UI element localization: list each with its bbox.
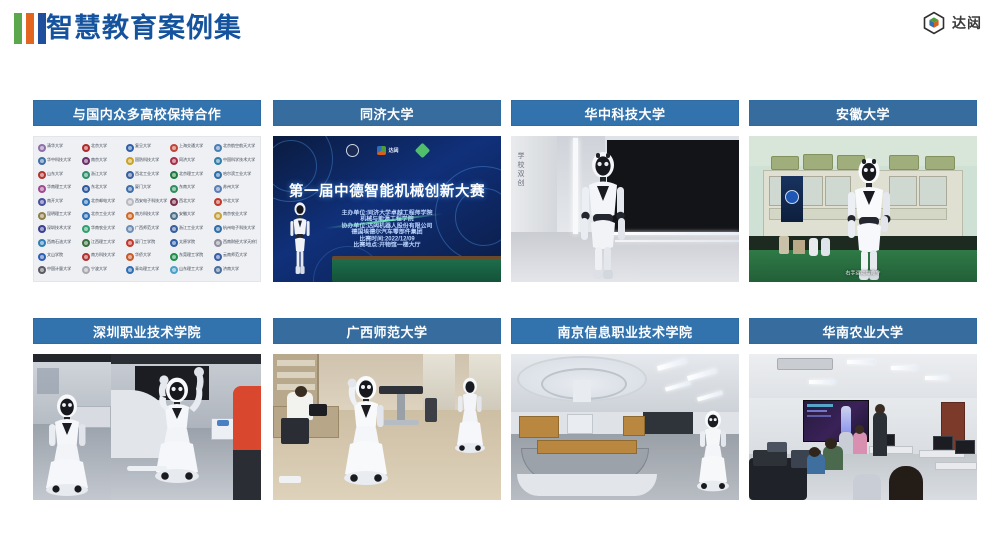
seated-person (807, 454, 825, 474)
page-header: 智慧教育案例集 达闼 (0, 0, 1000, 58)
university-name: 南方科技大学 (91, 254, 115, 258)
photo-left (33, 354, 111, 500)
case-card-partners[interactable]: 与国内众多高校保持合作 清华大学北京大学复旦大学上海交通大学北京航空航天大学华中… (33, 100, 261, 318)
university-logo-item: 山东大学 (37, 168, 81, 182)
university-logo-item: 华南农业大学 (81, 223, 125, 237)
monitor (933, 436, 953, 450)
small-object (779, 236, 789, 254)
university-name: 北京航空航天大学 (223, 146, 255, 150)
robot-figure (693, 410, 733, 500)
university-logo-item: 西北大学 (169, 195, 213, 209)
case-card-body (511, 354, 739, 500)
university-seal-icon (82, 185, 90, 193)
seated-person (823, 446, 843, 470)
accent-bar-blue (38, 13, 46, 44)
university-seal-icon (170, 157, 178, 165)
university-name: 太原学院 (179, 241, 195, 245)
chair (281, 418, 309, 444)
university-logo-item: 文山学院 (37, 250, 81, 264)
university-name: 复旦大学 (135, 146, 151, 150)
split-photo-pair (33, 354, 261, 500)
cardboard-box (793, 240, 805, 254)
university-logo-item: 南方科技大学 (125, 209, 169, 223)
toy-robot (821, 238, 830, 256)
university-logo-item: 上海交通大学 (169, 141, 213, 155)
university-logo-item: 南京大学 (81, 155, 125, 169)
person-head (855, 425, 864, 434)
wall-vertical-text: 学校双创 (515, 152, 525, 188)
university-seal-icon (170, 212, 178, 220)
university-name: 华侨大学 (135, 254, 151, 258)
video-subtitle: 右手运动用命令 (749, 269, 977, 277)
university-seal-icon (126, 198, 134, 206)
person-head (875, 404, 885, 414)
dark-doorway (643, 412, 693, 434)
university-seal-icon (126, 212, 134, 220)
atrium-scene (511, 354, 739, 500)
case-card-title: 广西师范大学 (273, 318, 501, 344)
accent-bars (14, 13, 46, 44)
university-seal-icon (214, 157, 222, 165)
university-logo-item: 宁波大学 (81, 263, 125, 277)
standing-person (873, 412, 887, 456)
laptop (309, 404, 327, 416)
robot-figure (843, 158, 895, 282)
robot-figure (147, 366, 219, 498)
storage-bin (803, 154, 833, 170)
university-logo-item: 南京农业大学 (213, 209, 257, 223)
dataa-brand-icon: 达闼 (377, 146, 398, 155)
university-logo-item: 西南财经大学天府学院 (213, 236, 257, 250)
university-logo-item: 北京航空航天大学 (213, 141, 257, 155)
university-logo-item: 江西理工大学 (81, 236, 125, 250)
university-logo-item: 华南理工大学 (37, 182, 81, 196)
university-name: 北京工业大学 (91, 214, 115, 218)
case-card-body (33, 354, 261, 500)
university-name: 宁波大学 (91, 268, 107, 272)
university-logo-item: 西南石油大学 (37, 236, 81, 250)
university-logo-item: 苏州大学 (213, 182, 257, 196)
university-logo-item: 安徽大学 (169, 209, 213, 223)
university-logo-item: 云南师范大学 (213, 250, 257, 264)
university-seal-icon (214, 144, 222, 152)
university-name: 昆明理工大学 (47, 214, 71, 218)
university-name: 南京农业大学 (223, 214, 247, 218)
ceiling-band (33, 354, 111, 362)
case-card-body: 达闼 第一届中德智能机械创新大赛 主办单位:同济大学卓越工程师学院机械与能源工程… (273, 136, 501, 282)
university-seal-icon (126, 144, 134, 152)
university-name: 上海交通大学 (179, 146, 203, 150)
university-logo-item: 山东理工大学 (169, 263, 213, 277)
university-name: 深圳技术大学 (47, 227, 71, 231)
university-logo-item: 同济大学 (169, 155, 213, 169)
university-logo-item: 中国科学技术大学 (213, 155, 257, 169)
university-name: 山东大学 (47, 173, 63, 177)
university-logo-item: 浙江大学 (81, 168, 125, 182)
lab-scene: 右手运动用命令 (749, 136, 977, 282)
case-row-2: 深圳职业技术学院 (0, 318, 1000, 536)
university-logo-item: 南方科技大学 (81, 250, 125, 264)
university-seal-icon (38, 212, 46, 220)
university-name: 国防科技大学 (135, 159, 159, 163)
university-seal-icon (170, 266, 178, 274)
classroom-scene (273, 354, 501, 500)
page-title: 智慧教育案例集 (46, 9, 242, 48)
case-card-scau[interactable]: 华南农业大学 (749, 318, 977, 536)
screen-ui-line (807, 404, 833, 407)
robot-figure (573, 152, 633, 280)
university-name: 云南师范大学 (223, 254, 247, 258)
shelf (277, 372, 315, 378)
university-name: 南开大学 (47, 200, 63, 204)
university-logo-item: 北京工业大学 (81, 209, 125, 223)
led-strip (615, 240, 739, 242)
university-name: 华南理工大学 (47, 186, 71, 190)
university-seal-icon (170, 239, 178, 247)
university-logo-item: 浙江工业大学 (169, 223, 213, 237)
university-seal-icon (38, 171, 46, 179)
corridor-scene: 学校双创 (511, 136, 739, 282)
monitor-arm (767, 442, 787, 452)
photo-right (111, 354, 261, 500)
university-seal-icon (38, 144, 46, 152)
computer-lab-scene (749, 354, 977, 500)
brand-logo: 达闼 (922, 11, 982, 35)
university-logo-item: 国防科技大学 (125, 155, 169, 169)
university-name: 广西师范大学 (135, 227, 159, 231)
university-seal-icon (126, 171, 134, 179)
case-card-body: 清华大学北京大学复旦大学上海交通大学北京航空航天大学华中科技大学南京大学国防科技… (33, 136, 261, 282)
case-card-body: 右手运动用命令 (749, 136, 977, 282)
university-name: 中国计量大学 (47, 268, 71, 272)
university-seal-icon (38, 198, 46, 206)
university-name: 哈尔滨工业大学 (223, 173, 251, 177)
university-name: 东南大学 (179, 186, 195, 190)
case-card-gxnu[interactable]: 广西师范大学 (273, 318, 501, 536)
university-seal-icon (214, 171, 222, 179)
case-card-body: 学校双创 (511, 136, 739, 282)
case-card-szpt[interactable]: 深圳职业技术学院 (33, 318, 261, 536)
case-card-title: 深圳职业技术学院 (33, 318, 261, 344)
university-seal-icon (82, 157, 90, 165)
podium-stem (397, 394, 405, 422)
university-logo-item: 华中科技大学 (37, 155, 81, 169)
counter-base-platform (517, 474, 657, 496)
robot-figure-background (449, 376, 491, 472)
university-name: 西南石油大学 (47, 241, 71, 245)
equipment-box (425, 398, 437, 422)
university-logo-item: 北京大学 (81, 141, 125, 155)
university-seal-icon (82, 198, 90, 206)
university-logo-item: 东莞理工学院 (169, 250, 213, 264)
university-logo-item: 复旦大学 (125, 141, 169, 155)
university-seal-icon (126, 239, 134, 247)
university-logo-wall: 清华大学北京大学复旦大学上海交通大学北京航空航天大学华中科技大学南京大学国防科技… (33, 136, 261, 282)
university-logo-item: 西北工业大学 (125, 168, 169, 182)
banner-brand-name: 达闼 (388, 147, 398, 154)
shelf (277, 360, 315, 366)
university-logo-item: 太原学院 (169, 236, 213, 250)
case-card-njcit[interactable]: 南京信息职业技术学院 (511, 318, 739, 536)
university-seal-icon (126, 185, 134, 193)
university-name: 江西理工大学 (91, 241, 115, 245)
person-head (809, 447, 820, 457)
university-logo-item: 济南大学 (213, 263, 257, 277)
case-card-title: 华南农业大学 (749, 318, 977, 344)
university-seal-icon (214, 239, 222, 247)
university-seal-icon (38, 253, 46, 261)
university-logo-item: 东北大学 (81, 182, 125, 196)
university-name: 中北大学 (223, 200, 239, 204)
university-name: 东北大学 (91, 186, 107, 190)
banner-sponsor-logos: 达闼 (273, 144, 501, 157)
university-seal-icon (170, 171, 178, 179)
corridor-robot-photo: 学校双创 (511, 136, 739, 282)
university-name: 南方科技大学 (135, 214, 159, 218)
brand-name: 达闼 (952, 13, 982, 33)
university-logo-item: 清华大学 (37, 141, 81, 155)
screen-ui-line (807, 410, 827, 412)
person-in-red-shirt (233, 386, 261, 500)
university-name: 浙江大学 (91, 173, 107, 177)
work-table (935, 462, 977, 470)
accent-bar-green (14, 13, 22, 44)
lab-classroom-photo (273, 354, 501, 500)
university-name: 北京邮电大学 (91, 200, 115, 204)
university-name: 中国科学技术大学 (223, 159, 255, 163)
university-logo-item: 深圳技术大学 (37, 223, 81, 237)
accent-bar-orange (26, 13, 34, 44)
university-logo-item: 东南大学 (169, 182, 213, 196)
charging-dock (127, 466, 167, 471)
partner-logo-icon (414, 143, 430, 159)
case-card-hust[interactable]: 华中科技大学 学校双创 (511, 100, 739, 318)
wood-desk (623, 416, 645, 436)
robot-figure-foreground (335, 372, 397, 500)
university-name: 浙江工业大学 (179, 227, 203, 231)
case-card-body (749, 354, 977, 500)
university-seal-icon (170, 198, 178, 206)
child-in-pink (853, 432, 867, 454)
university-logo-item: 青岛理工大学 (125, 263, 169, 277)
robot-figure (45, 394, 101, 498)
university-name: 文山学院 (47, 254, 63, 258)
university-seal-icon (82, 225, 90, 233)
emblem-icon (785, 190, 799, 204)
case-card-title: 同济大学 (273, 100, 501, 126)
hex-cube-logo-icon (922, 11, 946, 35)
university-name: 华中科技大学 (47, 159, 71, 163)
university-logo-item: 广西师范大学 (125, 223, 169, 237)
university-name: 西南财经大学天府学院 (223, 241, 257, 245)
university-seal-icon (170, 185, 178, 193)
storage-bin (771, 156, 799, 170)
monitor-foreground (753, 450, 787, 466)
university-name: 济南大学 (223, 268, 239, 272)
counter-top-wood (537, 440, 637, 454)
toy-robot (809, 238, 818, 256)
university-name: 华南农业大学 (91, 227, 115, 231)
university-seal-icon (82, 144, 90, 152)
white-panel (567, 414, 593, 434)
university-seal-icon (38, 185, 46, 193)
university-seal-icon (170, 225, 178, 233)
university-seal-icon (126, 266, 134, 274)
university-seal-icon (214, 253, 222, 261)
lab-robot-photo: 右手运动用命令 (749, 136, 977, 282)
case-card-body (273, 354, 501, 500)
university-name: 东莞理工学院 (179, 254, 203, 258)
chair-back (853, 474, 881, 500)
university-seal-icon (346, 144, 359, 157)
university-seal-icon (214, 185, 222, 193)
monitor (955, 440, 975, 454)
banner-title: 第一届中德智能机械创新大赛 (273, 180, 501, 201)
window-panel (37, 368, 59, 394)
university-logo-item: 厦门工学院 (125, 236, 169, 250)
computer-lab-photo (749, 354, 977, 500)
university-logo-item: 哈尔滨工业大学 (213, 168, 257, 182)
university-logo-item: 中国计量大学 (37, 263, 81, 277)
university-logo-item: 中北大学 (213, 195, 257, 209)
university-seal-icon (126, 225, 134, 233)
university-name: 北京大学 (91, 146, 107, 150)
university-seal-icon (170, 144, 178, 152)
case-card-title: 华中科技大学 (511, 100, 739, 126)
university-seal-icon (126, 157, 134, 165)
university-name: 杭州电子科技大学 (223, 227, 255, 231)
university-logo-item: 北京邮电大学 (81, 195, 125, 209)
floor-device (279, 476, 301, 483)
university-name: 西北大学 (179, 200, 195, 204)
case-card-title: 南京信息职业技术学院 (511, 318, 739, 344)
university-name: 安徽大学 (179, 214, 195, 218)
university-name: 西安电子科技大学 (135, 200, 167, 204)
university-name: 苏州大学 (223, 186, 239, 190)
university-name: 山东理工大学 (179, 268, 203, 272)
university-logo-item: 杭州电子科技大学 (213, 223, 257, 237)
atrium-robot-photo (511, 354, 739, 500)
ceiling-light (847, 360, 875, 364)
ceiling-light (925, 376, 949, 380)
wood-desk (519, 416, 559, 438)
university-logo-item: 南开大学 (37, 195, 81, 209)
university-name: 青岛理工大学 (135, 268, 159, 272)
university-logo-item: 厦门大学 (125, 182, 169, 196)
university-logo-item: 西安电子科技大学 (125, 195, 169, 209)
storage-bin (925, 156, 955, 170)
ceiling-light (809, 380, 835, 384)
robot-figure (287, 202, 313, 276)
university-seal-icon (170, 253, 178, 261)
university-seal-icon (82, 239, 90, 247)
university-name: 西北工业大学 (135, 173, 159, 177)
ceiling-hub (573, 380, 591, 402)
university-seal-icon (82, 266, 90, 274)
case-grid: 与国内众多高校保持合作 清华大学北京大学复旦大学上海交通大学北京航空航天大学华中… (0, 58, 1000, 538)
ceiling-band (111, 354, 261, 364)
university-logo-item: 昆明理工大学 (37, 209, 81, 223)
university-seal-icon (38, 225, 46, 233)
university-seal-icon (126, 253, 134, 261)
university-logo-item: 北京理工大学 (169, 168, 213, 182)
case-card-title: 与国内众多高校保持合作 (33, 100, 261, 126)
screen-ui-line (807, 415, 831, 417)
person-back-of-head (889, 466, 923, 500)
case-card-ahu[interactable]: 安徽大学 (749, 100, 977, 318)
person-head (295, 386, 307, 397)
event-banner-photo: 达闼 第一届中德智能机械创新大赛 主办单位:同济大学卓越工程师学院机械与能源工程… (273, 136, 501, 282)
dual-robot-photo (33, 354, 261, 500)
university-seal-icon (38, 157, 46, 165)
ceiling-light (891, 366, 917, 370)
person-head (825, 438, 837, 449)
university-name: 同济大学 (179, 159, 195, 163)
case-row-1: 与国内众多高校保持合作 清华大学北京大学复旦大学上海交通大学北京航空航天大学华中… (0, 100, 1000, 318)
university-seal-icon (82, 212, 90, 220)
university-seal-icon (214, 225, 222, 233)
ac-vent (777, 358, 833, 370)
university-name: 清华大学 (47, 146, 63, 150)
university-seal-icon (214, 212, 222, 220)
case-card-tongji[interactable]: 同济大学 达闼 第一届中德智 (273, 100, 501, 318)
pool-table (332, 256, 501, 282)
university-name: 南京大学 (91, 159, 107, 163)
cabinet-glass-door (919, 176, 947, 206)
cube-icon (377, 146, 386, 155)
case-card-title: 安徽大学 (749, 100, 977, 126)
university-seal-icon (214, 198, 222, 206)
university-seal-icon (214, 266, 222, 274)
university-seal-icon (38, 239, 46, 247)
university-seal-icon (82, 171, 90, 179)
university-name: 厦门大学 (135, 186, 151, 190)
university-seal-icon (82, 253, 90, 261)
university-logo-item: 华侨大学 (125, 250, 169, 264)
university-name: 厦门工学院 (135, 241, 155, 245)
oval-display (595, 416, 625, 432)
university-seal-icon (38, 266, 46, 274)
university-name: 北京理工大学 (179, 173, 203, 177)
